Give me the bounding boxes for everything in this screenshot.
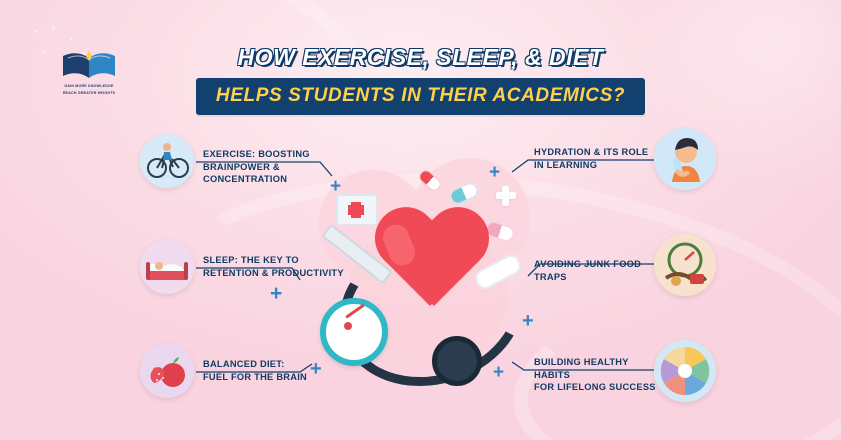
pressure-gauge-icon [320,298,388,366]
cross-icon [502,186,509,206]
label-exercise-line1: EXERCISE: BOOSTING [203,149,310,159]
running-person-icon [140,134,194,188]
plus-separator: + [522,310,534,333]
page-title-line2: HELPS STUDENTS IN THEIR ACADEMICS? [196,78,645,115]
plus-separator: + [270,282,282,306]
label-junk-food-line1: AVOIDING JUNK FOOD TRAPS [534,259,641,282]
label-hydration: HYDRATION & ITS ROLE IN LEARNING [534,146,659,171]
label-hydration-line2: IN LEARNING [534,160,597,170]
fruits-apple-strawberry-icon [140,344,194,398]
infographic-canvas: GAIN MORE KNOWLEDGE REACH GREATER HEIGHT… [0,0,841,440]
label-junk-food: AVOIDING JUNK FOOD TRAPS [534,258,664,283]
label-exercise: EXERCISE: BOOSTING BRAINPOWER & CONCENTR… [203,148,353,186]
label-sleep-line2: RETENTION & PRODUCTIVITY [203,268,344,278]
label-balanced-diet: BALANCED DIET: FUEL FOR THE BRAIN [203,358,353,383]
label-sleep: SLEEP: THE KEY TO RETENTION & PRODUCTIVI… [203,254,353,279]
sleeping-person-bed-icon [140,240,194,294]
label-hydration-line1: HYDRATION & ITS ROLE [534,147,648,157]
label-healthy-habits-line1: BUILDING HEALTHY HABITS [534,357,629,380]
stethoscope-bell-icon [432,336,482,386]
boy-drinking-water-icon [654,128,716,190]
title-block: HOW EXERCISE, SLEEP, & DIET HELPS STUDEN… [0,44,841,115]
label-exercise-line2: BRAINPOWER & CONCENTRATION [203,162,287,185]
label-balanced-diet-line2: FUEL FOR THE BRAIN [203,372,307,382]
label-healthy-habits-line2: FOR LIFELONG SUCCESS [534,382,656,392]
page-title-line1: HOW EXERCISE, SLEEP, & DIET [238,44,604,71]
plus-separator: + [493,362,504,384]
label-sleep-line1: SLEEP: THE KEY TO [203,255,299,265]
label-healthy-habits: BUILDING HEALTHY HABITS FOR LIFELONG SUC… [534,356,664,394]
plus-separator: + [489,162,500,184]
label-balanced-diet-line1: BALANCED DIET: [203,359,285,369]
